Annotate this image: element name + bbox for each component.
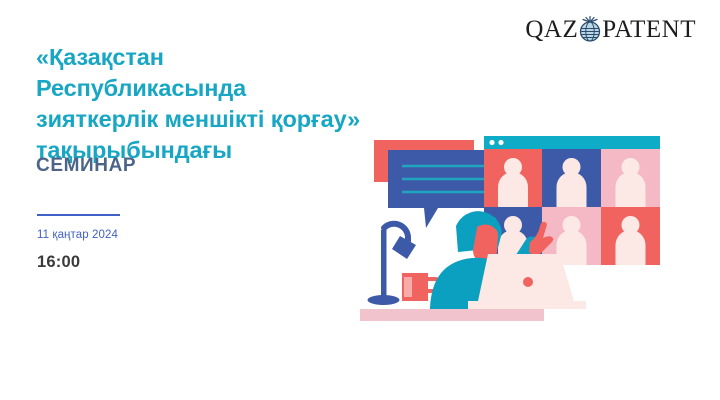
event-type-label: СЕМИНАР — [36, 155, 136, 177]
page-title: «Қазақстан Республикасында зияткерлік ме… — [36, 42, 366, 166]
event-date: 11 қаңтар 2024 — [37, 229, 118, 241]
video-call-window — [484, 136, 660, 265]
seminar-poster: QAZ PATENT «Қазақстан Респ — [0, 0, 720, 400]
laptop-indicator-dot — [523, 277, 533, 287]
qazpatent-logo: QAZ PATENT — [525, 14, 696, 44]
window-dot-icon — [489, 140, 494, 145]
online-seminar-illustration — [360, 118, 720, 328]
divider-rule — [37, 214, 120, 216]
logo-text-qaz: QAZ — [525, 17, 578, 42]
logo-text-patent: PATENT — [602, 17, 696, 42]
window-dot-icon — [498, 140, 503, 145]
globe-emblem-icon — [577, 15, 603, 43]
desk-surface — [360, 309, 544, 321]
event-time: 16:00 — [37, 253, 80, 272]
